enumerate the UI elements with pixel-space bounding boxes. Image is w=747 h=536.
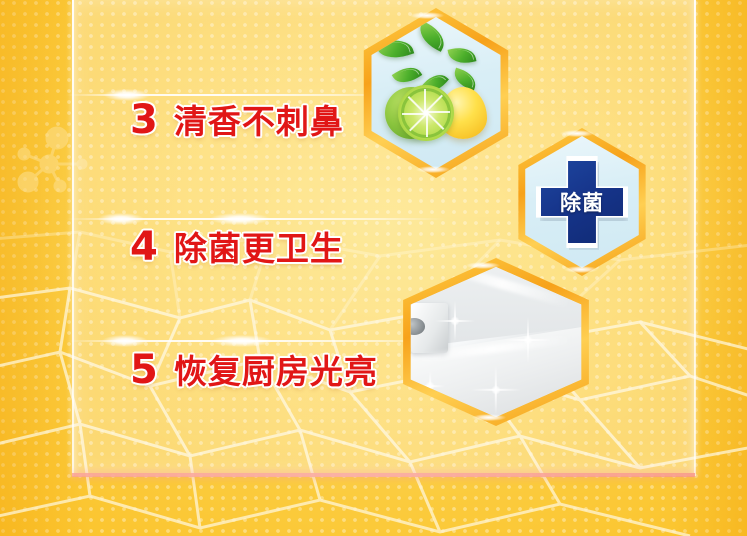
panel-right-edge xyxy=(694,0,696,476)
cross-badge-label: 除菌 xyxy=(541,187,623,217)
feature-number-2: 4 xyxy=(130,224,158,270)
feature-row-2: 4 除菌更卫生 xyxy=(130,222,344,270)
feature-label-3: 恢复厨房光亮 xyxy=(174,345,378,393)
feature-icon-badge-3 xyxy=(388,258,604,426)
feature-number-1: 3 xyxy=(130,97,158,143)
feature-label-2: 除菌更卫生 xyxy=(174,222,344,270)
product-feature-banner: 除菌 xyxy=(0,0,747,536)
feature-row-1: 3 清香不刺鼻 xyxy=(130,95,344,143)
panel-left-edge xyxy=(72,0,74,476)
panel-bottom-edge xyxy=(72,473,695,477)
feature-label-1: 清香不刺鼻 xyxy=(174,95,344,143)
feature-number-3: 5 xyxy=(130,347,158,393)
feature-icon-badge-2: 除菌 xyxy=(508,128,656,276)
feature-icon-badge-1 xyxy=(352,8,520,178)
feature-row-3: 5 恢复厨房光亮 xyxy=(130,345,378,393)
